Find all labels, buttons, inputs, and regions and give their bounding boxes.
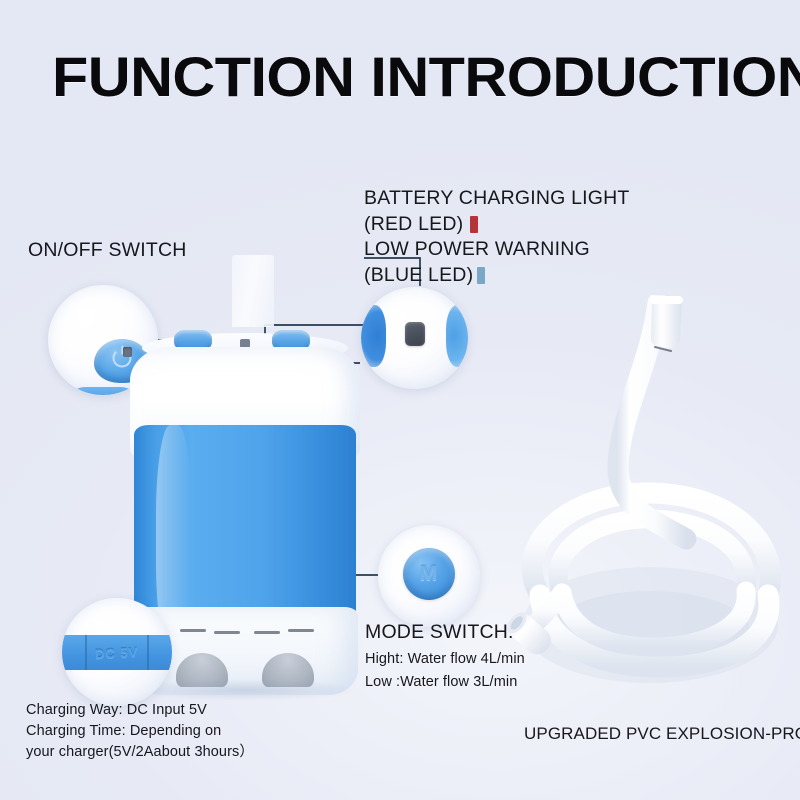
dc-port-band: DC 5V [62,635,172,671]
device-spout [232,255,274,327]
red-led-text: (RED LED) [364,213,463,235]
red-led-swatch [470,216,478,233]
dc-port-label: DC 5V [62,642,172,663]
callout-led-indicator [361,287,468,389]
battery-light-label-block: BATTERY CHARGING LIGHT (RED LED) LOW POW… [364,186,630,288]
battery-charging-line2: (RED LED) [364,212,630,238]
device-shadow [128,679,362,701]
battery-charging-line1: BATTERY CHARGING LIGHT [364,186,630,212]
low-power-line4: (BLUE LED) [364,263,630,289]
charging-duration-line: your charger(5V/2Aabout 3hours） [26,742,254,763]
vent-slot [288,629,314,632]
mode-button-icon: M [403,548,455,600]
vent-slot [254,631,280,634]
low-power-line3: LOW POWER WARNING [364,237,630,263]
hose-caption: UPGRADED PVC EXPLOSION-PROOF HOSE [524,722,800,745]
vent-slot [214,631,240,634]
charging-way-line: Charging Way: DC Input 5V [26,700,254,721]
charging-info-block: Charging Way: DC Input 5V Charging Time:… [26,700,254,763]
mode-button-glyph: M [420,562,439,586]
infographic-canvas: FUNCTION INTRODUCTION ON/OFF SWITCH [0,0,800,800]
charging-time-line: Charging Time: Depending on [26,721,254,742]
hose-nozzle [650,296,683,351]
pvc-hose [500,295,800,715]
led-window-icon [405,322,425,346]
right-button-edge [446,305,468,366]
blue-led-swatch [477,267,485,284]
blue-led-text: (BLUE LED) [364,264,473,286]
vent-slot [180,629,206,632]
callout-mode-switch: M [378,525,480,627]
callout-dc-port: DC 5V [62,598,172,706]
